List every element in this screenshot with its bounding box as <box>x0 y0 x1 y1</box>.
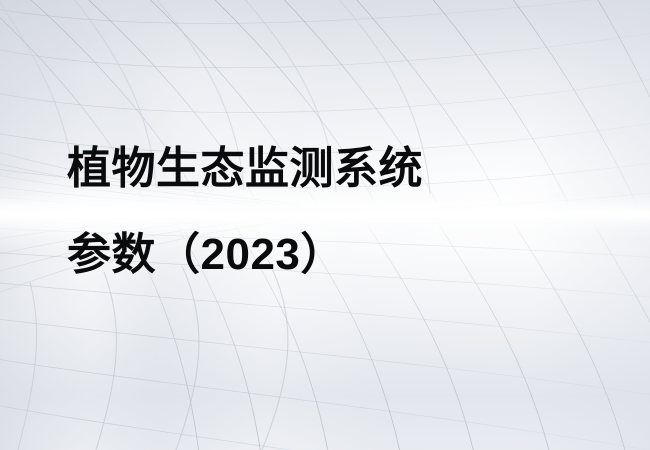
title-line-1: 植物生态监测系统 <box>67 126 627 212</box>
title-banner: 植物生态监测系统 参数（2023） <box>0 0 650 450</box>
banner-title: 植物生态监测系统 参数（2023） <box>67 126 627 298</box>
title-line-2: 参数（2023） <box>67 212 627 298</box>
